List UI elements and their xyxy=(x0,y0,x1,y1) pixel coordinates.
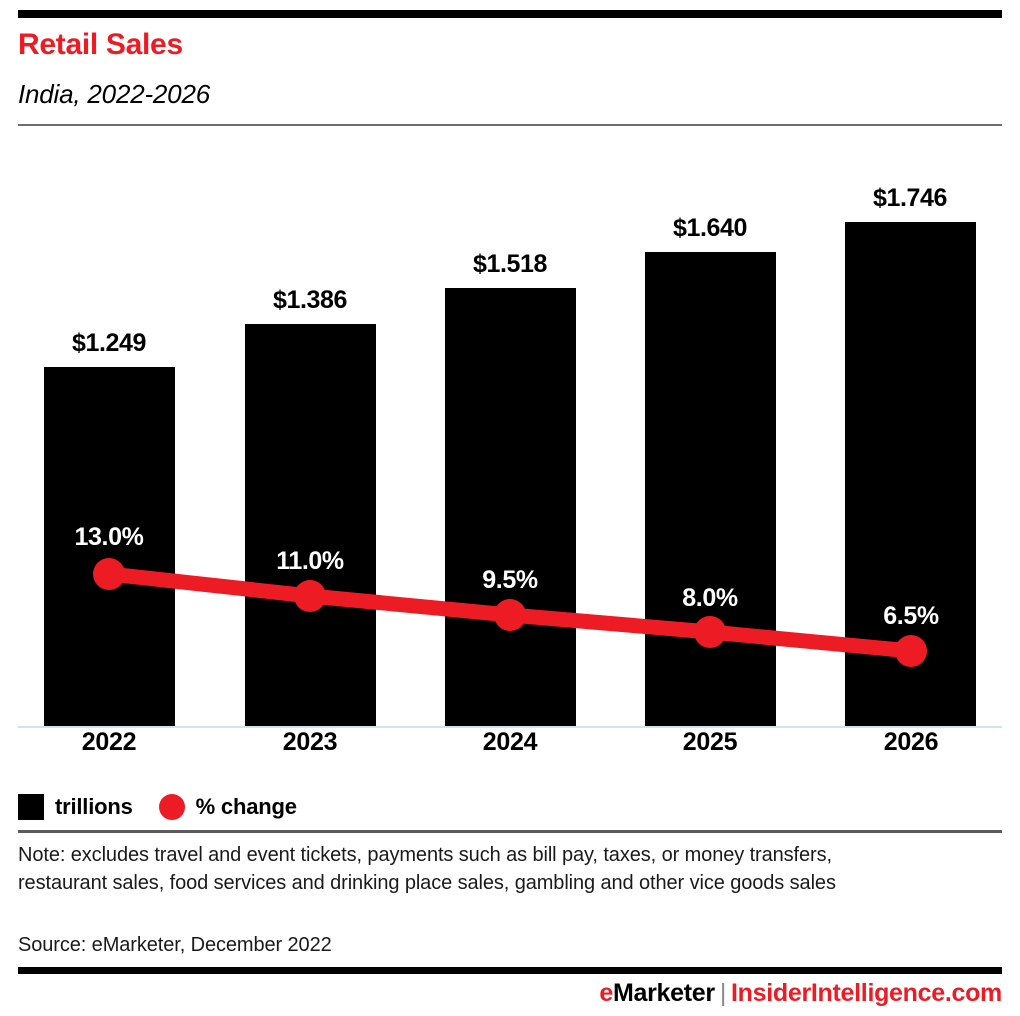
legend-item-pct-change: % change xyxy=(159,794,297,820)
bar-value-label-2026: $1.746 xyxy=(873,184,947,212)
bar-value-label-2023: $1.386 xyxy=(273,286,347,314)
bar-value-label-2022: $1.249 xyxy=(72,329,146,357)
pct-label-2024: 9.5% xyxy=(482,566,538,594)
bar-value-label-2024: $1.518 xyxy=(473,250,548,278)
pct-label-2023: 11.0% xyxy=(276,547,344,575)
chart-note: Note: excludes travel and event tickets,… xyxy=(18,841,923,897)
brand-marketer-text: Marketer xyxy=(613,979,715,1007)
bar-2025 xyxy=(645,252,776,726)
page-subtitle: India, 2022-2026 xyxy=(18,78,210,110)
chart-svg: $1.249 $1.386 $1.518 $1.640 $1.746 13.0%… xyxy=(0,140,1020,740)
x-tick-2025: 2025 xyxy=(630,728,790,757)
legend-label-pct-change: % change xyxy=(196,794,297,820)
pct-label-2025: 8.0% xyxy=(682,584,738,612)
chart-plot-area: $1.249 $1.386 $1.518 $1.640 $1.746 13.0%… xyxy=(0,140,1020,740)
pct-label-2026: 6.5% xyxy=(883,602,939,630)
x-tick-2022: 2022 xyxy=(29,728,189,757)
legend-label-trillions: trillions xyxy=(55,794,133,820)
bar-2023 xyxy=(245,324,376,726)
chart-page: Retail Sales India, 2022-2026 $1.249 $1.… xyxy=(0,0,1020,1016)
x-tick-2023: 2023 xyxy=(230,728,390,757)
x-tick-2024: 2024 xyxy=(430,728,590,757)
pct-marker-2022 xyxy=(93,558,125,590)
pct-marker-2025 xyxy=(694,616,726,648)
chart-legend: trillions % change xyxy=(18,790,297,824)
header-divider xyxy=(18,124,1002,126)
legend-item-trillions: trillions xyxy=(18,794,133,820)
chart-source: Source: eMarketer, December 2022 xyxy=(18,932,332,958)
top-rule-divider xyxy=(18,10,1002,18)
x-tick-2026: 2026 xyxy=(831,728,991,757)
x-axis-labels: 2022 2023 2024 2025 2026 xyxy=(0,728,1020,774)
legend-circle-icon xyxy=(159,794,185,820)
bar-value-label-2025: $1.640 xyxy=(673,214,747,242)
legend-divider xyxy=(18,830,1002,833)
bar-2024 xyxy=(445,288,576,726)
brand-e-letter: e xyxy=(599,979,613,1007)
brand-site-text: InsiderIntelligence.com xyxy=(731,979,1002,1007)
brand-separator: | xyxy=(715,979,731,1007)
pct-marker-2026 xyxy=(895,635,927,667)
pct-marker-2024 xyxy=(494,599,526,631)
pct-marker-2023 xyxy=(294,580,326,612)
footer-divider xyxy=(18,967,1002,974)
page-title: Retail Sales xyxy=(18,28,183,62)
legend-square-icon xyxy=(18,794,44,820)
pct-label-2022: 13.0% xyxy=(75,523,144,551)
footer-branding: eMarketer|InsiderIntelligence.com xyxy=(599,978,1002,1008)
